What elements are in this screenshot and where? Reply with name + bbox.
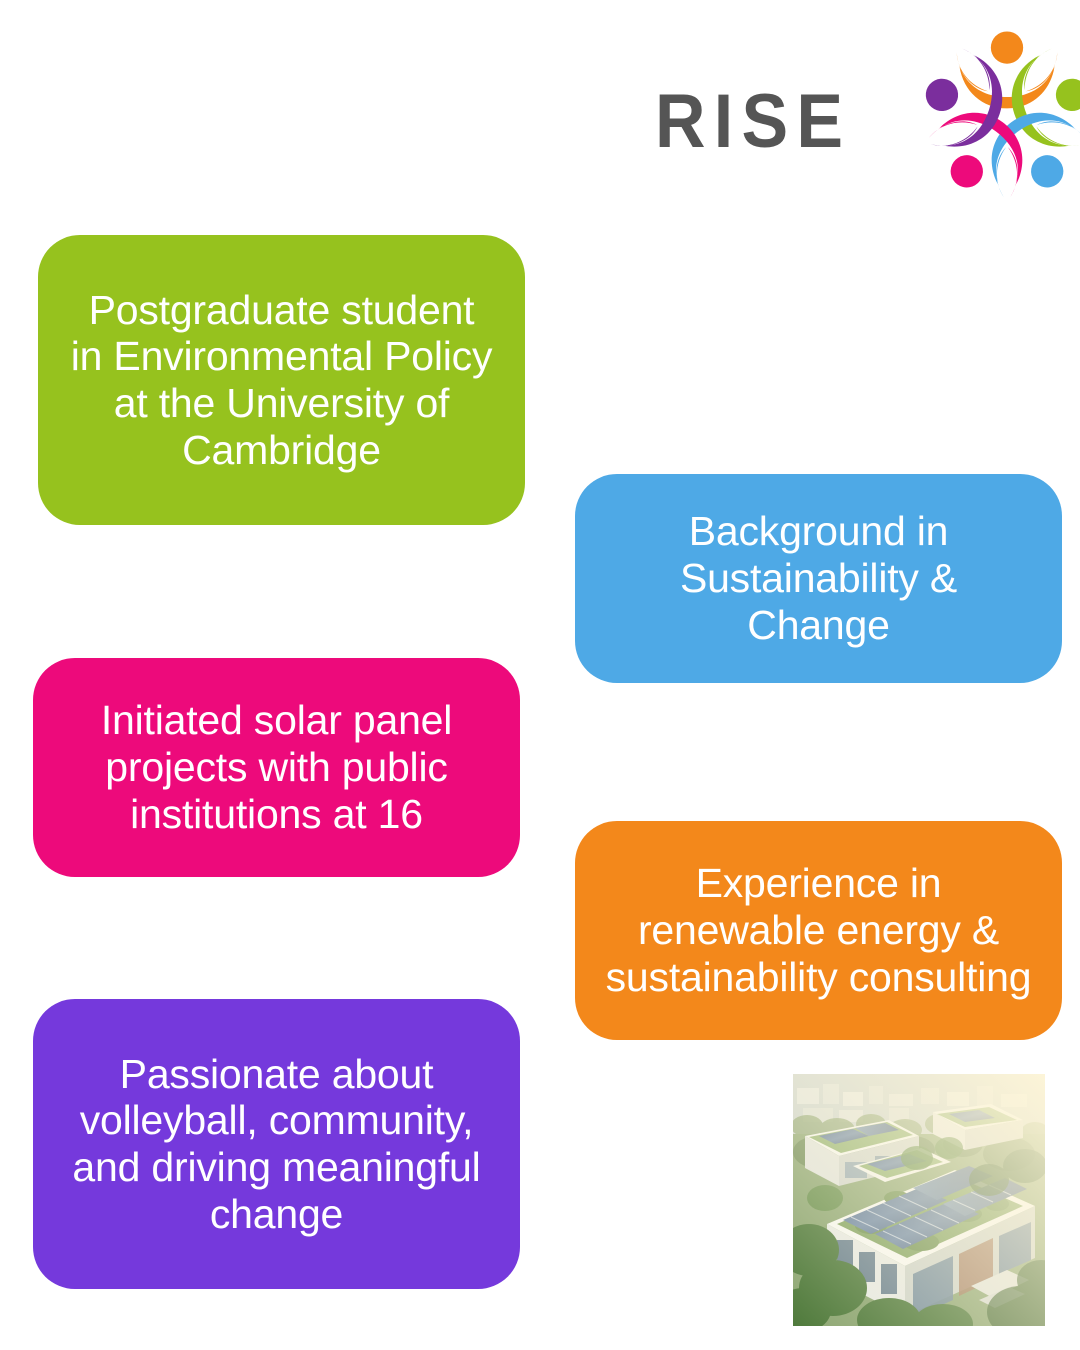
fact-card-experience: Experience in renewable energy & sustain… [575,821,1062,1040]
poster-canvas: RISE [0,0,1080,1350]
fact-card-education: Postgraduate student in Environmental Po… [38,235,525,525]
fact-card-background-text: Background in Sustainability & Change [680,508,957,648]
five-people-circle-emblem-icon [912,21,1080,211]
fact-card-solar-projects: Initiated solar panel projects with publ… [33,658,520,877]
fact-card-passions: Passionate about volleyball, community, … [33,999,520,1289]
fact-card-passions-text: Passionate about volleyball, community, … [72,1051,480,1238]
solar-panel-green-roof-buildings-photo [793,1074,1045,1326]
logo-wordmark: RISE [655,84,851,160]
fact-card-experience-text: Experience in renewable energy & sustain… [606,860,1032,1000]
fact-card-education-text: Postgraduate student in Environmental Po… [71,287,493,474]
fact-card-solar-projects-text: Initiated solar panel projects with publ… [101,697,452,837]
fact-card-background: Background in Sustainability & Change [575,474,1062,683]
rise-logo: RISE [655,18,1065,213]
photo-illustration [793,1074,1045,1326]
